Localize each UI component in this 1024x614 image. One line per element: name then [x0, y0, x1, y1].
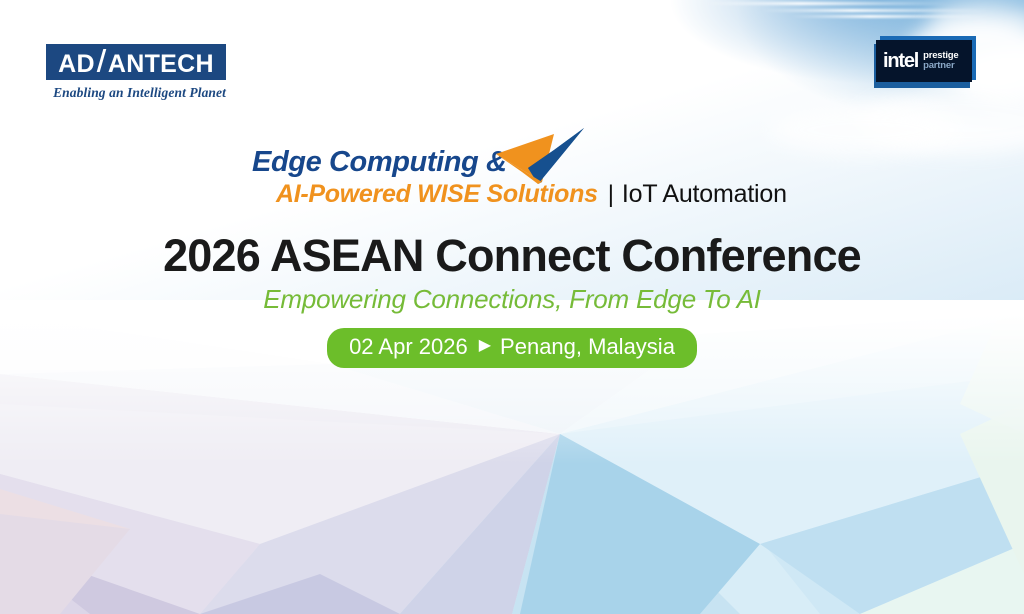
eyebrow-highlight: AI-Powered WISE Solutions: [276, 180, 598, 208]
page-title: 2026 ASEAN Connect Conference: [0, 230, 1024, 282]
eyebrow-rest: IoT Automation: [622, 180, 787, 208]
event-location: Penang, Malaysia: [500, 333, 675, 361]
eyebrow-line-1: Edge Computing &: [252, 146, 507, 179]
advantech-wordmark: ADANTECH: [58, 48, 214, 77]
intel-logo-card: intel prestige partner: [876, 40, 972, 82]
intel-tier-line2: partner: [923, 61, 958, 71]
event-date-location-badge: 02 Apr 2026 ▶ Penang, Malaysia: [327, 328, 697, 368]
advantech-wordmark-part2: ANTECH: [108, 52, 214, 77]
eyebrow-separator: |: [608, 181, 614, 208]
advantech-logo-box: ADANTECH: [46, 44, 226, 80]
cloud-streak: [700, 2, 950, 5]
intel-wordmark: intel: [883, 51, 918, 71]
intel-partner-tier: prestige partner: [923, 51, 958, 70]
hero-content: Edge Computing & AI-Powered WISE Solutio…: [0, 138, 1024, 216]
advantech-wordmark-part1: AD: [58, 52, 95, 77]
hero-tagline: Empowering Connections, From Edge To AI: [0, 284, 1024, 315]
advantech-slogan: Enabling an Intelligent Planet: [46, 85, 226, 101]
advantech-slash-icon: [95, 48, 108, 72]
intel-prestige-partner-logo[interactable]: intel prestige partner: [874, 40, 974, 84]
advantech-logo[interactable]: ADANTECH Enabling an Intelligent Planet: [46, 44, 226, 101]
eyebrow-line-2: AI-Powered WISE Solutions|IoT Automation: [276, 182, 787, 207]
event-date: 02 Apr 2026: [349, 333, 468, 361]
event-details-row: 02 Apr 2026 ▶ Penang, Malaysia: [0, 328, 1024, 368]
hero-eyebrow: Edge Computing & AI-Powered WISE Solutio…: [0, 138, 1024, 216]
play-triangle-icon: ▶: [479, 336, 491, 356]
event-banner: ADANTECH Enabling an Intelligent Planet …: [0, 0, 1024, 614]
